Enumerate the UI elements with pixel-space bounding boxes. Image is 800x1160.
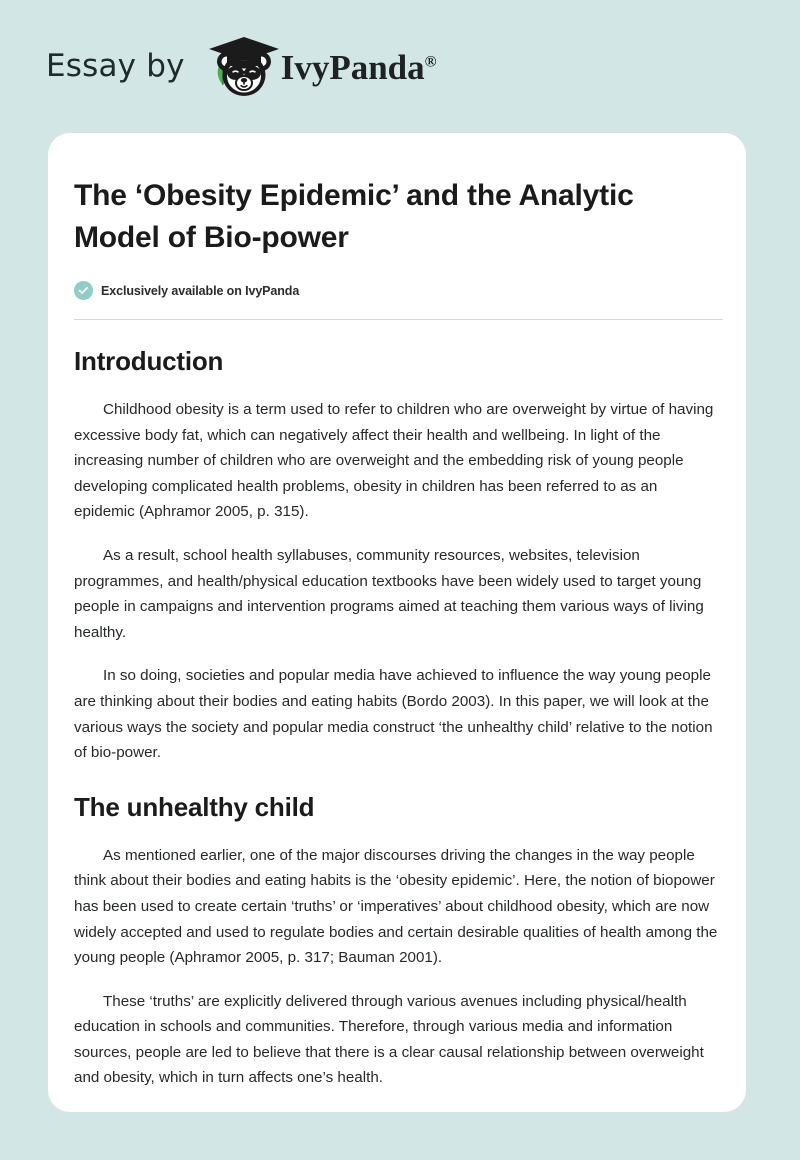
header-divider	[74, 319, 723, 320]
status-badge: Exclusively available on IvyPanda	[74, 281, 720, 300]
site-brand-header: Essay by	[0, 0, 800, 133]
panda-graduation-cap-icon	[201, 31, 287, 103]
paragraph: As mentioned earlier, one of the major d…	[74, 843, 720, 971]
brand-wordmark-text: IvyPanda	[281, 48, 425, 87]
check-circle-icon	[74, 281, 93, 300]
page-title: The ‘Obesity Epidemic’ and the Analytic …	[74, 175, 720, 259]
registered-trademark-mark: ®	[425, 53, 437, 70]
status-badge-label: Exclusively available on IvyPanda	[101, 284, 299, 298]
brand-prefix-label: Essay by	[46, 51, 185, 82]
paragraph: In so doing, societies and popular media…	[74, 663, 720, 765]
paragraph: These ‘truths’ are explicitly delivered …	[74, 989, 720, 1091]
ivypanda-logo-link[interactable]: IvyPanda®	[201, 31, 437, 103]
section-heading-the-unhealthy-child: The unhealthy child	[74, 792, 720, 823]
paragraph: As a result, school health syllabuses, c…	[74, 543, 720, 645]
section-heading-introduction: Introduction	[74, 346, 720, 377]
paragraph: Childhood obesity is a term used to refe…	[74, 397, 720, 525]
essay-paper-card: The ‘Obesity Epidemic’ and the Analytic …	[48, 133, 746, 1112]
brand-wordmark: IvyPanda®	[281, 50, 437, 85]
